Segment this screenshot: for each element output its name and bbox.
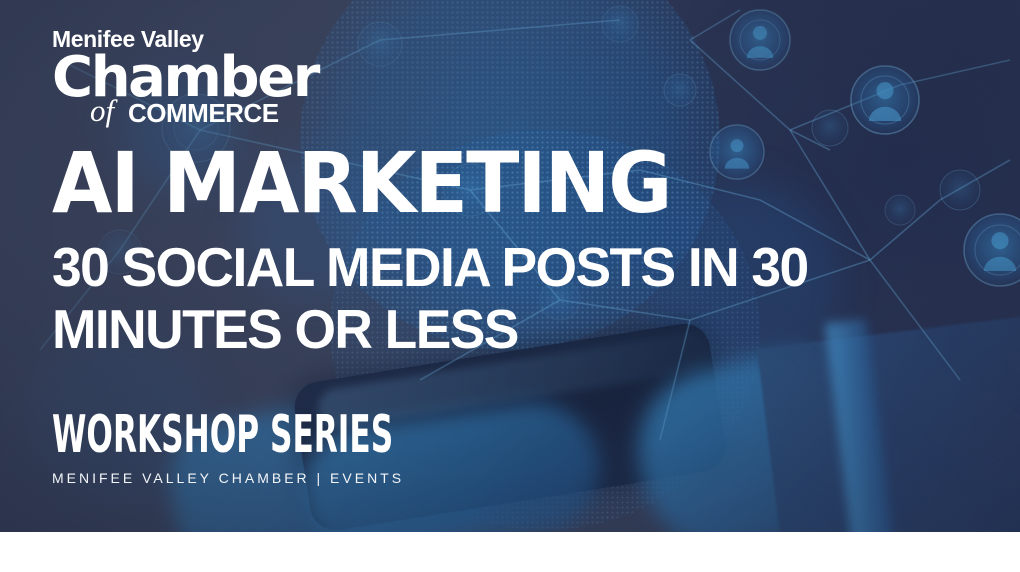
headline-block: AI MARKETING 30 SOCIAL MEDIA POSTS IN 30… [52,143,831,359]
series-block: WORKSHOP SERIES MENIFEE VALLEY CHAMBER |… [52,412,621,485]
headline-secondary-line-2: MINUTES OR LESS [52,299,808,359]
series-subtitle: MENIFEE VALLEY CHAMBER | EVENTS [52,471,621,485]
headline-secondary-line-1: 30 SOCIAL MEDIA POSTS IN 30 [52,237,808,297]
logo-commerce-row: of COMMERCE [52,97,318,125]
logo-word-of: of [90,95,114,126]
headline-primary: AI MARKETING [52,143,776,223]
logo-word-commerce: COMMERCE [128,100,279,126]
series-title: WORKSHOP SERIES [52,412,393,458]
banner-content: Menifee Valley Chamber of COMMERCE AI MA… [0,0,1020,532]
promo-banner: Menifee Valley Chamber of COMMERCE AI MA… [0,0,1020,532]
chamber-logo: Menifee Valley Chamber of COMMERCE [52,28,318,125]
bottom-white-strip [0,532,1020,572]
